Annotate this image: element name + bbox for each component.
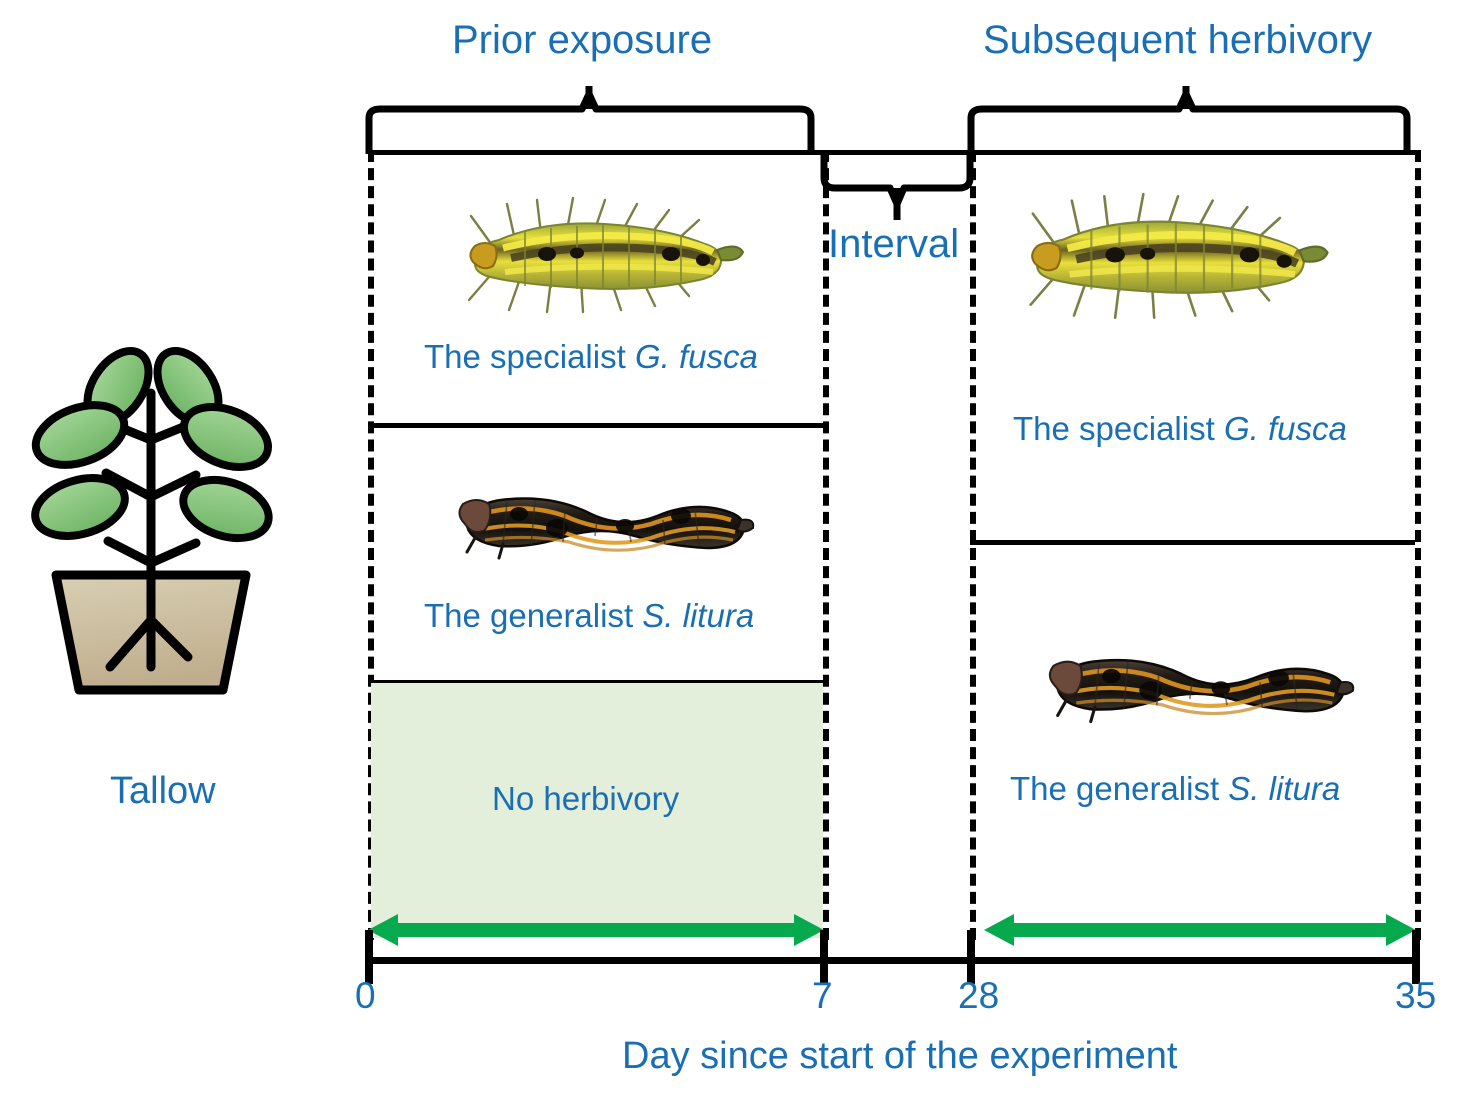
generalist-caterpillar-icon-right xyxy=(1035,630,1355,745)
right-panel-left-edge xyxy=(970,150,976,940)
left-row-1-species: G. fusca xyxy=(635,338,758,375)
left-row-1-label-pre: The specialist xyxy=(424,338,635,375)
prior-exposure-duration-arrow xyxy=(362,908,830,952)
left-panel-divider-1 xyxy=(368,423,823,428)
axis-title: Day since start of the experiment xyxy=(622,1035,1177,1078)
right-row-2-species: S. litura xyxy=(1228,770,1340,807)
axis-label-28: 28 xyxy=(958,975,999,1017)
left-row-1-label: The specialist G. fusca xyxy=(424,338,758,376)
interval-label: Interval xyxy=(828,222,959,267)
axis-label-0: 0 xyxy=(355,975,376,1017)
left-row-3-label: No herbivory xyxy=(492,780,679,818)
right-row-1-species: G. fusca xyxy=(1224,410,1347,447)
right-panel-divider-1 xyxy=(970,540,1415,545)
subsequent-herbivory-duration-arrow xyxy=(978,908,1422,952)
tallow-plant-illustration xyxy=(18,345,318,745)
right-row-2-label: The generalist S. litura xyxy=(1010,770,1340,808)
left-row-2-species: S. litura xyxy=(642,597,754,634)
specialist-caterpillar-icon xyxy=(455,196,755,316)
subsequent-herbivory-bracket-icon xyxy=(962,82,1432,160)
right-row-1-label: The specialist G. fusca xyxy=(1013,410,1347,448)
left-row-2-label: The generalist S. litura xyxy=(424,597,754,635)
prior-exposure-title: Prior exposure xyxy=(452,18,712,63)
plant-svg xyxy=(18,345,318,745)
generalist-caterpillar-icon xyxy=(445,470,755,580)
right-row-1-label-pre: The specialist xyxy=(1013,410,1224,447)
axis-baseline xyxy=(368,957,1417,964)
left-row-2-label-pre: The generalist xyxy=(424,597,642,634)
subsequent-herbivory-title: Subsequent herbivory xyxy=(983,18,1372,63)
right-row-2-label-pre: The generalist xyxy=(1010,770,1228,807)
specialist-caterpillar-icon-right xyxy=(1008,192,1348,322)
axis-label-7: 7 xyxy=(812,975,833,1017)
plant-label: Tallow xyxy=(110,770,216,813)
axis-label-35: 35 xyxy=(1395,975,1436,1017)
prior-exposure-bracket-icon xyxy=(360,82,840,160)
left-panel-right-edge xyxy=(823,150,829,940)
right-panel-right-edge xyxy=(1415,150,1421,940)
interval-bracket-icon xyxy=(816,152,986,222)
